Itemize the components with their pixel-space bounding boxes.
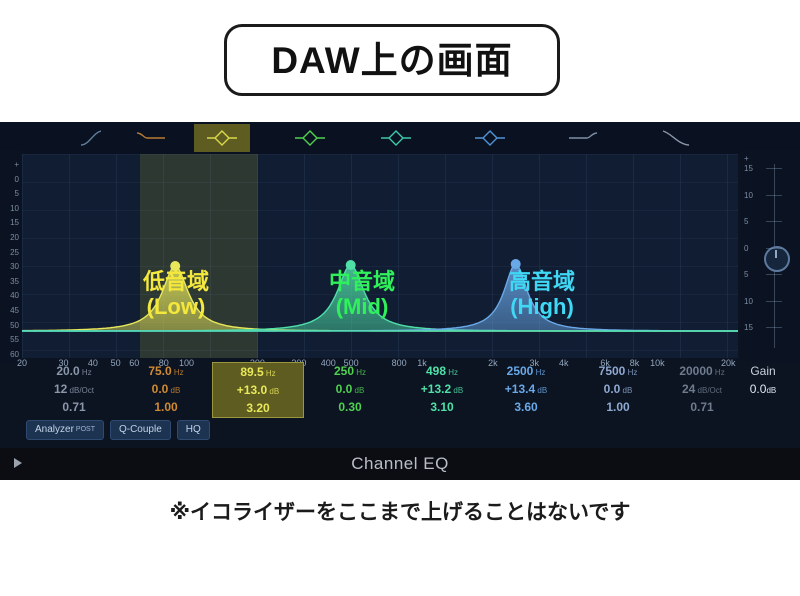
band-frequency-field[interactable]: 89.5 Hz xyxy=(213,363,303,381)
play-triangle-icon[interactable] xyxy=(14,458,22,468)
output-gain-ruler[interactable]: +15105051015 xyxy=(740,150,800,362)
band-params-high-shelf[interactable]: 7500 Hz0.0 dB1.00 xyxy=(572,362,664,416)
plugin-name: Channel EQ xyxy=(351,454,449,474)
db-tick-label: 0 xyxy=(15,175,19,184)
band-q-field[interactable]: 1.00 xyxy=(120,398,212,416)
gain-tick-label: 5 xyxy=(744,217,748,226)
band-q-field[interactable]: 3.10 xyxy=(396,398,488,416)
gain-knob[interactable] xyxy=(764,246,790,272)
db-tick-label: 35 xyxy=(10,277,19,286)
band-gain-value: 0.0 xyxy=(336,382,353,396)
band-frequency-unit: Hz xyxy=(625,368,637,377)
band-overlay-label: 高音域(High) xyxy=(472,270,612,319)
plugin-footer: Channel EQ xyxy=(0,448,800,480)
band-overlay-label-jp: 低音域 xyxy=(106,270,246,295)
band-overlay-label: 低音域(Low) xyxy=(106,270,246,319)
gain-tick-label: 5 xyxy=(744,270,748,279)
db-tick-label: 40 xyxy=(10,291,19,300)
toggle-label: HQ xyxy=(186,424,201,435)
gain-tick-label: 10 xyxy=(744,191,753,200)
band-frequency-field[interactable]: 20.0 Hz xyxy=(28,362,120,380)
band-frequency-value: 75.0 xyxy=(148,364,171,378)
db-tick-label: 50 xyxy=(10,321,19,330)
band-gain-field[interactable]: 0.0 dB xyxy=(120,380,212,398)
band-overlay-label-en: (Mid) xyxy=(292,295,432,320)
gain-tick-label: 0 xyxy=(744,244,748,253)
band-frequency-field[interactable]: 2500 Hz xyxy=(480,362,572,380)
band-gain-value: +13.0 xyxy=(237,383,267,397)
band-q-field[interactable]: 3.60 xyxy=(480,398,572,416)
gain-tick-label: 10 xyxy=(744,297,753,306)
band-params-low-shelf[interactable]: 75.0 Hz0.0 dB1.00 xyxy=(120,362,212,416)
band-gain-field[interactable]: 0.0 dB xyxy=(304,380,396,398)
db-tick-label: 20 xyxy=(10,233,19,242)
band-frequency-unit: Hz xyxy=(354,368,366,377)
band-gain-value: 24 xyxy=(682,382,695,396)
band-frequency-unit: Hz xyxy=(172,368,184,377)
gain-tick-label: 15 xyxy=(744,164,753,173)
band-params-high-mid[interactable]: 2500 Hz+13.4 dB3.60 xyxy=(480,362,572,416)
gain-tick-mark xyxy=(766,274,782,275)
toggle-analyzer[interactable]: AnalyzerPOST xyxy=(26,420,104,440)
band-frequency-unit: Hz xyxy=(80,368,92,377)
gain-tick-mark xyxy=(766,248,782,249)
band-gain-field[interactable]: 0.0 dB xyxy=(572,380,664,398)
toggle-state-label: POST xyxy=(76,426,95,433)
gain-tick-label: 15 xyxy=(744,323,753,332)
band-q-field[interactable]: 3.20 xyxy=(213,399,303,417)
db-tick-label: 15 xyxy=(10,218,19,227)
band-gain-unit: dB/Oct xyxy=(695,386,722,395)
highpass-filter-icon[interactable] xyxy=(68,124,124,152)
band-frequency-value: 2500 xyxy=(507,364,534,378)
band-control-point[interactable] xyxy=(511,259,521,269)
band-frequency-field[interactable]: 75.0 Hz xyxy=(120,362,212,380)
band-frequency-field[interactable]: 7500 Hz xyxy=(572,362,664,380)
band-gain-value: 0.0 xyxy=(604,382,621,396)
band-frequency-value: 89.5 xyxy=(240,365,263,379)
eq-response-curves xyxy=(22,154,738,358)
high-shelf-icon[interactable] xyxy=(556,124,612,152)
band-params-low-band[interactable]: 89.5 Hz+13.0 dB3.20 xyxy=(212,362,304,418)
gain-tick-mark xyxy=(766,327,782,328)
band-params-low-mid[interactable]: 250 Hz0.0 dB0.30 xyxy=(304,362,396,416)
band-gain-unit: dB xyxy=(451,386,463,395)
band-overlay-label-en: (Low) xyxy=(106,295,246,320)
band-frequency-value: 20.0 xyxy=(56,364,79,378)
db-tick-label: 55 xyxy=(10,335,19,344)
db-scale-ruler: +051015202530354045505560 xyxy=(0,150,22,362)
title-banner: DAW上の画面 xyxy=(224,24,560,96)
gain-value-number: 0.0 xyxy=(750,382,767,396)
db-tick-label: + xyxy=(14,160,19,169)
band-q-field[interactable]: 0.30 xyxy=(304,398,396,416)
db-tick-label: 10 xyxy=(10,204,19,213)
gain-tick-mark xyxy=(766,168,782,169)
band-frequency-field[interactable]: 250 Hz xyxy=(304,362,396,380)
gain-tick-mark xyxy=(766,301,782,302)
band-frequency-unit: Hz xyxy=(713,368,725,377)
band-gain-value: +13.4 xyxy=(505,382,535,396)
band-gain-unit: dB/Oct xyxy=(67,386,94,395)
db-tick-label: 45 xyxy=(10,306,19,315)
toggle-label: Analyzer xyxy=(35,424,74,435)
gain-tick-mark xyxy=(766,195,782,196)
band-frequency-field[interactable]: 498 Hz xyxy=(396,362,488,380)
toggle-label: Q-Couple xyxy=(119,424,162,435)
toggle-hq[interactable]: HQ xyxy=(177,420,210,440)
band-gain-unit: dB xyxy=(168,386,180,395)
channel-eq-plugin-window: +051015202530354045505560 +15105051015 2… xyxy=(0,122,800,480)
band-frequency-value: 7500 xyxy=(599,364,626,378)
band-gain-value: 12 xyxy=(54,382,67,396)
band-frequency-field[interactable]: 20000 Hz xyxy=(656,362,748,380)
band-gain-unit: dB xyxy=(535,386,547,395)
band-frequency-value: 250 xyxy=(334,364,354,378)
band-gain-field[interactable]: +13.4 dB xyxy=(480,380,572,398)
db-tick-label: 30 xyxy=(10,262,19,271)
eq-curve-display[interactable] xyxy=(22,154,738,358)
band-frequency-unit: Hz xyxy=(264,369,276,378)
band-gain-field[interactable]: 12 dB/Oct xyxy=(28,380,120,398)
lowpass-filter-icon[interactable] xyxy=(648,124,704,152)
band-gain-field[interactable]: +13.0 dB xyxy=(213,381,303,399)
bell-band-1-icon[interactable] xyxy=(194,124,250,152)
low-shelf-icon[interactable] xyxy=(124,124,180,152)
band-frequency-unit: Hz xyxy=(533,368,545,377)
band-parameter-table[interactable]: Gain 0.0dB 20.0 Hz12 dB/Oct0.7175.0 Hz0.… xyxy=(0,362,800,420)
band-q-field[interactable]: 0.71 xyxy=(656,398,748,416)
gain-value-unit: dB xyxy=(766,386,776,395)
band-gain-value: 0.0 xyxy=(152,382,169,396)
bell-band-4-icon[interactable] xyxy=(462,124,518,152)
gain-tick-mark xyxy=(766,221,782,222)
bell-band-3-icon[interactable] xyxy=(368,124,424,152)
db-tick-label: 25 xyxy=(10,248,19,257)
band-gain-field[interactable]: +13.2 dB xyxy=(396,380,488,398)
band-gain-unit: dB xyxy=(267,387,279,396)
band-shape-icon-strip xyxy=(0,122,800,154)
band-params-lowpass[interactable]: 20000 Hz24 dB/Oct0.71 xyxy=(656,362,748,416)
band-q-field[interactable]: 0.71 xyxy=(28,398,120,416)
band-overlay-label-jp: 中音域 xyxy=(292,270,432,295)
band-frequency-unit: Hz xyxy=(446,368,458,377)
db-tick-label: 5 xyxy=(15,189,19,198)
band-gain-unit: dB xyxy=(352,386,364,395)
band-frequency-value: 20000 xyxy=(679,364,712,378)
band-params-mid-band[interactable]: 498 Hz+13.2 dB3.10 xyxy=(396,362,488,416)
bell-band-2-icon[interactable] xyxy=(282,124,338,152)
band-params-highpass[interactable]: 20.0 Hz12 dB/Oct0.71 xyxy=(28,362,120,416)
band-gain-value: +13.2 xyxy=(421,382,451,396)
toggle-q-couple[interactable]: Q-Couple xyxy=(110,420,171,440)
band-overlay-label-jp: 高音域 xyxy=(472,270,612,295)
band-overlay-label: 中音域(Mid) xyxy=(292,270,432,319)
band-gain-field[interactable]: 24 dB/Oct xyxy=(656,380,748,398)
page-title: DAW上の画面 xyxy=(271,42,512,79)
band-overlay-label-en: (High) xyxy=(472,295,612,320)
band-frequency-value: 498 xyxy=(426,364,446,378)
gain-tick-label: + xyxy=(744,154,749,163)
band-q-field[interactable]: 1.00 xyxy=(572,398,664,416)
caption-note: ※イコライザーをここまで上げることはないです xyxy=(0,496,800,526)
band-gain-unit: dB xyxy=(620,386,632,395)
toggle-button-group[interactable]: AnalyzerPOSTQ-CoupleHQ xyxy=(26,420,216,440)
